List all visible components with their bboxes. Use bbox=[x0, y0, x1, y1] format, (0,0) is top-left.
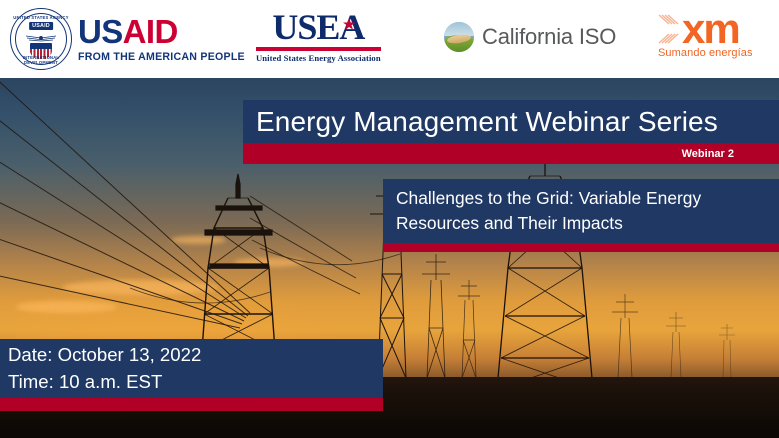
usea-word: USEA ★ bbox=[272, 10, 364, 45]
series-title-text: Energy Management Webinar Series bbox=[243, 106, 718, 138]
california-iso-wordmark: California ISO bbox=[482, 24, 616, 50]
seal-wings-icon bbox=[24, 34, 58, 42]
usaid-seal-icon: UNITED STATES AGENCY USAID INTERNATIONAL… bbox=[10, 8, 72, 70]
webinar-number-text: Webinar 2 bbox=[682, 148, 779, 160]
usaid-word: USAID bbox=[78, 15, 245, 48]
xm-logo: xm Sumando energías bbox=[658, 12, 753, 59]
webinar-subtitle-text: Challenges to the Grid: Variable Energy … bbox=[383, 186, 729, 235]
webinar-subtitle-accent-bar bbox=[383, 243, 779, 252]
usea-tagline: United States Energy Association bbox=[256, 53, 381, 63]
star-icon: ★ bbox=[343, 19, 355, 33]
webinar-title-slide: UNITED STATES AGENCY USAID INTERNATIONAL… bbox=[0, 0, 779, 438]
partner-logo-bar: UNITED STATES AGENCY USAID INTERNATIONAL… bbox=[0, 0, 779, 78]
usaid-logo: UNITED STATES AGENCY USAID INTERNATIONAL… bbox=[10, 8, 245, 70]
xm-wordmark-block: xm Sumando energías bbox=[658, 12, 753, 59]
seal-arc-top-text: UNITED STATES AGENCY bbox=[11, 15, 71, 20]
usea-divider bbox=[256, 47, 381, 51]
seal-arc-bottom-text: INTERNATIONAL DEVELOPMENT bbox=[11, 55, 71, 65]
subtitle-line-1: Challenges to the Grid: Variable Energy bbox=[396, 188, 701, 208]
usaid-tagline: FROM THE AMERICAN PEOPLE bbox=[78, 51, 245, 63]
xm-chevron-icon bbox=[658, 12, 684, 46]
series-title-accent-bar: Webinar 2 bbox=[243, 143, 779, 164]
california-iso-mark-icon bbox=[444, 22, 474, 52]
usea-wordmark: USEA ★ United States Energy Association bbox=[256, 10, 381, 63]
usaid-word-aid: AID bbox=[123, 13, 178, 50]
event-details-accent-bar bbox=[0, 398, 383, 411]
event-time-text: Time: 10 a.m. EST bbox=[8, 369, 383, 396]
event-details-block: Date: October 13, 2022 Time: 10 a.m. EST bbox=[0, 339, 383, 398]
xm-tagline: Sumando energías bbox=[658, 47, 753, 59]
xm-wordmark-row: xm bbox=[658, 12, 753, 46]
series-title-banner: Energy Management Webinar Series bbox=[243, 100, 779, 143]
xm-word: xm bbox=[682, 13, 739, 46]
usaid-wordmark: USAID FROM THE AMERICAN PEOPLE bbox=[78, 15, 245, 63]
caiso-mark-sky bbox=[444, 22, 474, 36]
event-date-text: Date: October 13, 2022 bbox=[8, 342, 383, 369]
california-iso-logo: California ISO bbox=[444, 22, 616, 52]
seal-ribbon-text: USAID bbox=[29, 22, 53, 30]
usea-logo: USEA ★ United States Energy Association bbox=[256, 10, 381, 63]
usaid-word-us: US bbox=[78, 13, 123, 50]
webinar-subtitle-block: Challenges to the Grid: Variable Energy … bbox=[383, 179, 779, 243]
subtitle-line-2: Resources and Their Impacts bbox=[396, 213, 623, 233]
